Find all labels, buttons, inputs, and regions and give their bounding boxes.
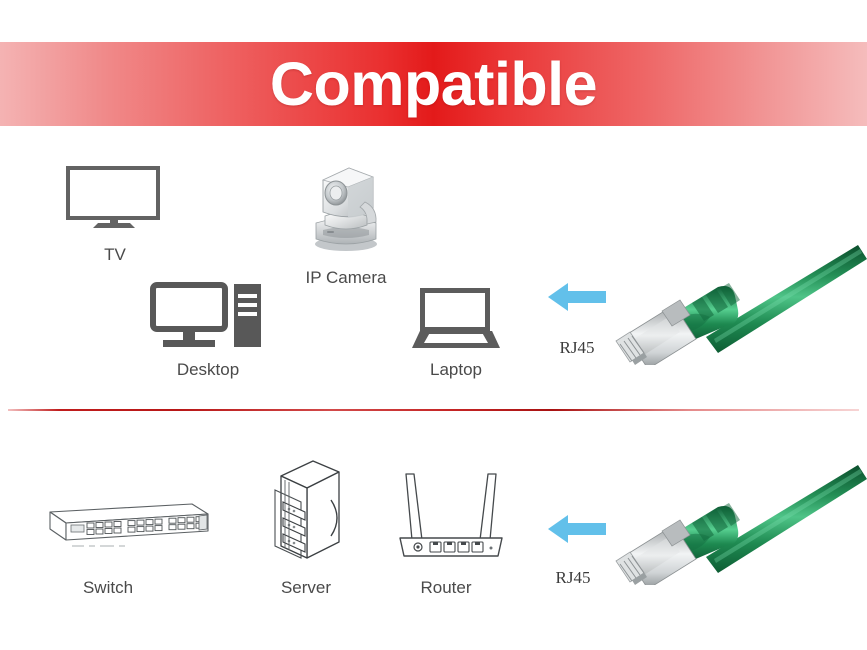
rj45-patch-cable-top [610,243,867,365]
rj45-patch-cable-bottom [610,463,867,585]
left-arrow-icon [548,280,606,314]
rj45-label-bottom: RJ45 [533,568,613,588]
desktop-computer-icon [150,282,264,350]
laptop-icon [412,288,500,348]
wifi-router-icon [392,462,510,562]
server-rack-icon [263,458,347,564]
tv-stand-foot [93,223,135,228]
laptop-label: Laptop [404,360,508,380]
left-arrow-icon [548,512,606,546]
rj45-label-top: RJ45 [537,338,617,358]
tv-icon [66,166,164,228]
ip-camera-label: IP Camera [286,268,406,288]
switch-label: Switch [52,578,164,598]
desktop-monitor-base [163,340,215,347]
server-label: Server [258,578,354,598]
page-title: Compatible [270,54,597,115]
desktop-label: Desktop [152,360,264,380]
section-divider [8,409,859,411]
desktop-tower [234,284,261,347]
network-switch-icon [42,496,212,552]
tower-slot [238,294,257,298]
desktop-monitor [150,282,228,332]
laptop-screen [420,288,490,332]
ip-camera-icon [303,160,389,252]
router-label: Router [394,578,498,598]
tv-label: TV [66,245,164,265]
tv-screen [66,166,160,220]
tower-slot [238,303,257,307]
compatibility-diagram: Compatible TV [0,0,867,650]
laptop-keyboard-deck [424,334,488,343]
tower-slot [238,312,257,316]
header-banner: Compatible [0,42,867,126]
